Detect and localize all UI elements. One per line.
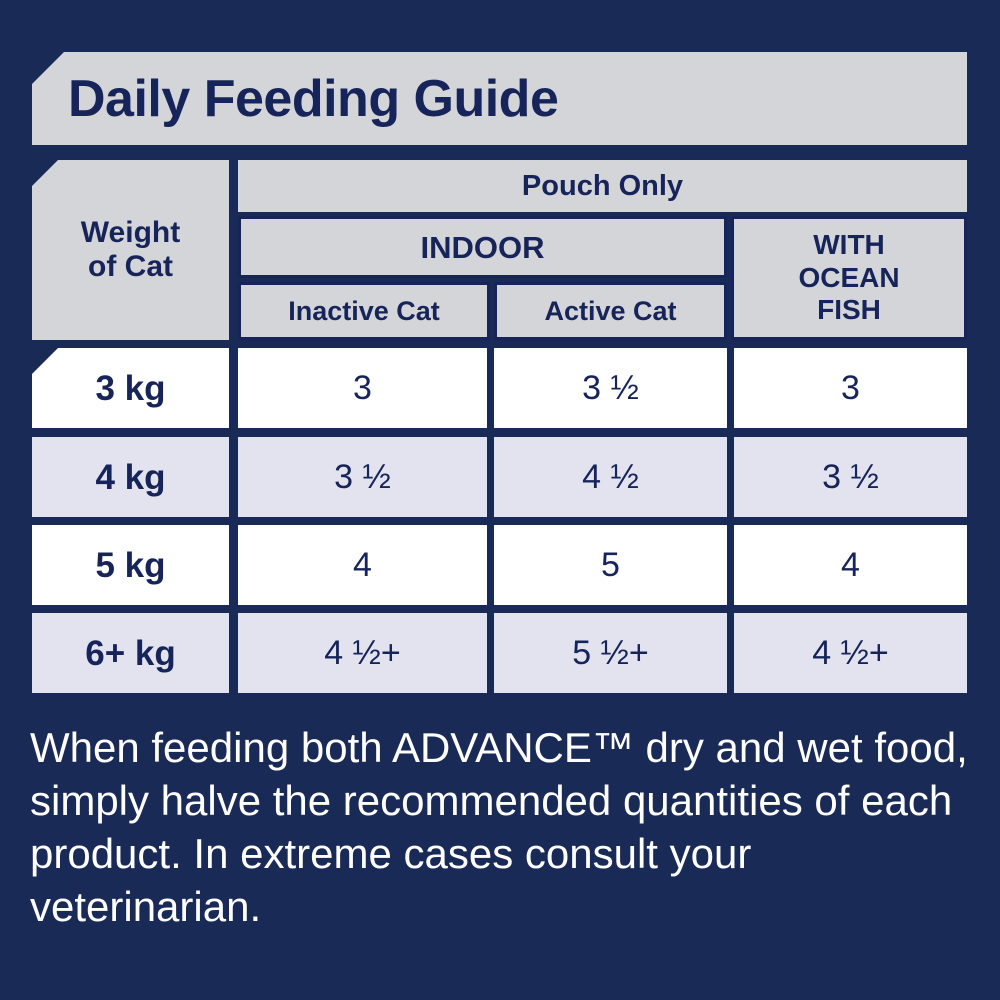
- cell-ocean-fish: 4 ½+: [734, 613, 967, 693]
- cell-inactive: 3 ½: [238, 437, 487, 517]
- cell-active-label: 5: [601, 548, 620, 582]
- cell-active: 3 ½: [494, 348, 727, 428]
- table-row: 3 kg 3 3 ½ 3: [32, 348, 967, 428]
- header-weight-of-cat-label: Weight of Cat: [81, 216, 180, 283]
- header-ocean-line2: OCEAN: [798, 262, 899, 293]
- title-banner: Daily Feeding Guide: [32, 52, 967, 145]
- cell-inactive-label: 3: [353, 371, 372, 405]
- cell-ocean-fish: 3: [734, 348, 967, 428]
- cell-inactive: 3: [238, 348, 487, 428]
- cell-weight-label: 5 kg: [95, 548, 165, 583]
- cell-ocean-fish-label: 3: [841, 371, 860, 405]
- table-row: 5 kg 4 5 4: [32, 525, 967, 605]
- cell-ocean-fish-label: 3 ½: [822, 460, 879, 494]
- header-weight-line2: of Cat: [88, 250, 173, 283]
- cell-active: 4 ½: [494, 437, 727, 517]
- header-indoor: INDOOR: [238, 216, 727, 278]
- feeding-note: When feeding both ADVANCE™ dry and wet f…: [30, 722, 975, 934]
- cell-weight-label: 3 kg: [95, 371, 165, 406]
- header-pouch-only: Pouch Only: [238, 160, 967, 212]
- feeding-guide-panel: Daily Feeding Guide Weight of Cat Pouch …: [0, 0, 1000, 1000]
- cell-inactive: 4: [238, 525, 487, 605]
- cell-weight: 5 kg: [32, 525, 229, 605]
- cell-weight-label: 6+ kg: [85, 636, 175, 671]
- header-active-cat-label: Active Cat: [544, 298, 676, 325]
- cell-ocean-fish: 3 ½: [734, 437, 967, 517]
- cell-active: 5: [494, 525, 727, 605]
- header-ocean-line1: WITH: [813, 229, 885, 260]
- cell-weight-label: 4 kg: [95, 460, 165, 495]
- cell-ocean-fish-label: 4: [841, 548, 860, 582]
- cell-active-label: 3 ½: [582, 371, 639, 405]
- cell-weight: 6+ kg: [32, 613, 229, 693]
- header-inactive-cat: Inactive Cat: [238, 282, 490, 340]
- cell-inactive-label: 4: [353, 548, 372, 582]
- cell-inactive-label: 4 ½+: [324, 636, 401, 670]
- header-with-ocean-fish-label: WITH OCEAN FISH: [798, 229, 899, 326]
- cell-active-label: 4 ½: [582, 460, 639, 494]
- header-ocean-line3: FISH: [817, 294, 881, 325]
- table-row: 4 kg 3 ½ 4 ½ 3 ½: [32, 437, 967, 517]
- header-with-ocean-fish: WITH OCEAN FISH: [731, 216, 967, 340]
- header-pouch-only-label: Pouch Only: [522, 172, 683, 201]
- cell-inactive: 4 ½+: [238, 613, 487, 693]
- cell-active: 5 ½+: [494, 613, 727, 693]
- header-indoor-label: INDOOR: [421, 232, 545, 263]
- header-inactive-cat-label: Inactive Cat: [288, 298, 440, 325]
- feeding-guide-table: Weight of Cat Pouch Only INDOOR WITH OCE…: [32, 160, 967, 697]
- cell-inactive-label: 3 ½: [334, 460, 391, 494]
- cell-weight: 4 kg: [32, 437, 229, 517]
- cell-weight: 3 kg: [32, 348, 229, 428]
- cell-ocean-fish: 4: [734, 525, 967, 605]
- cell-active-label: 5 ½+: [572, 636, 649, 670]
- table-row: 6+ kg 4 ½+ 5 ½+ 4 ½+: [32, 613, 967, 693]
- header-weight-line1: Weight: [81, 216, 180, 249]
- page-title: Daily Feeding Guide: [68, 73, 558, 125]
- header-active-cat: Active Cat: [494, 282, 727, 340]
- cell-ocean-fish-label: 4 ½+: [812, 636, 889, 670]
- header-weight-of-cat: Weight of Cat: [32, 160, 229, 340]
